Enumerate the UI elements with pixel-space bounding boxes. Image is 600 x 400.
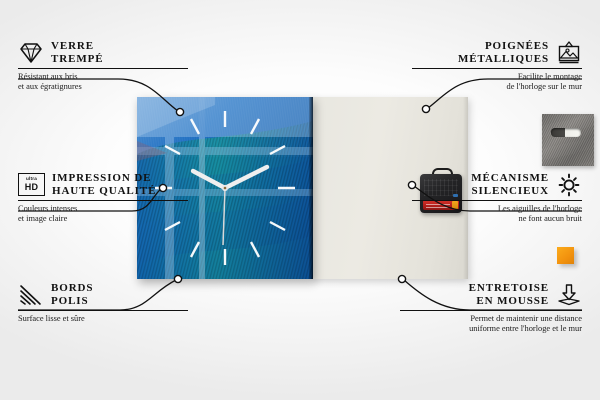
feature-divider: [18, 68, 188, 69]
picture-hanger-icon: [556, 41, 582, 65]
ultra-hd-icon-bottom: HD: [25, 183, 39, 192]
feature-title: POIGNÉES MÉTALLIQUES: [458, 40, 549, 65]
feature-mecanisme-silencieux: MÉCANISME SILENCIEUX Les aiguilles de l'…: [412, 172, 582, 224]
foam-spacer-icon: [556, 283, 582, 307]
feature-title: ENTRETOISE EN MOUSSE: [469, 282, 549, 307]
feature-title: MÉCANISME SILENCIEUX: [471, 172, 549, 197]
feature-impression-haute-qualite: ultra HD IMPRESSION DE HAUTE QUALITÉ Cou…: [18, 172, 188, 224]
feature-subtitle: Les aiguilles de l'horloge ne font aucun…: [412, 204, 582, 224]
feature-divider: [18, 200, 188, 201]
feature-title: BORDS POLIS: [51, 282, 93, 307]
feature-verre-trempe: VERRE TREMPÉ Résistant aux bris et aux é…: [18, 40, 188, 92]
feature-subtitle: Couleurs intenses et image claire: [18, 204, 188, 224]
feature-title: IMPRESSION DE HAUTE QUALITÉ: [52, 172, 156, 197]
diamond-icon: [18, 41, 44, 65]
feature-entretoise-en-mousse: ENTRETOISE EN MOUSSE Permet de maintenir…: [400, 282, 582, 334]
feature-subtitle: Surface lisse et sûre: [18, 314, 188, 324]
polished-edge-icon: [18, 283, 44, 307]
feature-poignees-metalliques: POIGNÉES MÉTALLIQUES Facilite le montage…: [412, 40, 582, 92]
gear-icon: [556, 173, 582, 197]
feature-divider: [18, 310, 188, 311]
feature-title: VERRE TREMPÉ: [51, 40, 103, 65]
feature-bords-polis: BORDS POLIS Surface lisse et sûre: [18, 282, 188, 324]
feature-subtitle: Permet de maintenir une distance uniform…: [400, 314, 582, 334]
feature-divider: [412, 200, 582, 201]
feature-divider: [412, 68, 582, 69]
infographic-canvas: VERRE TREMPÉ Résistant aux bris et aux é…: [0, 0, 600, 400]
feature-subtitle: Résistant aux bris et aux égratignures: [18, 72, 188, 92]
feature-divider: [400, 310, 582, 311]
ultra-hd-icon: ultra HD: [18, 173, 45, 196]
feature-subtitle: Facilite le montage de l'horloge sur le …: [412, 72, 582, 92]
